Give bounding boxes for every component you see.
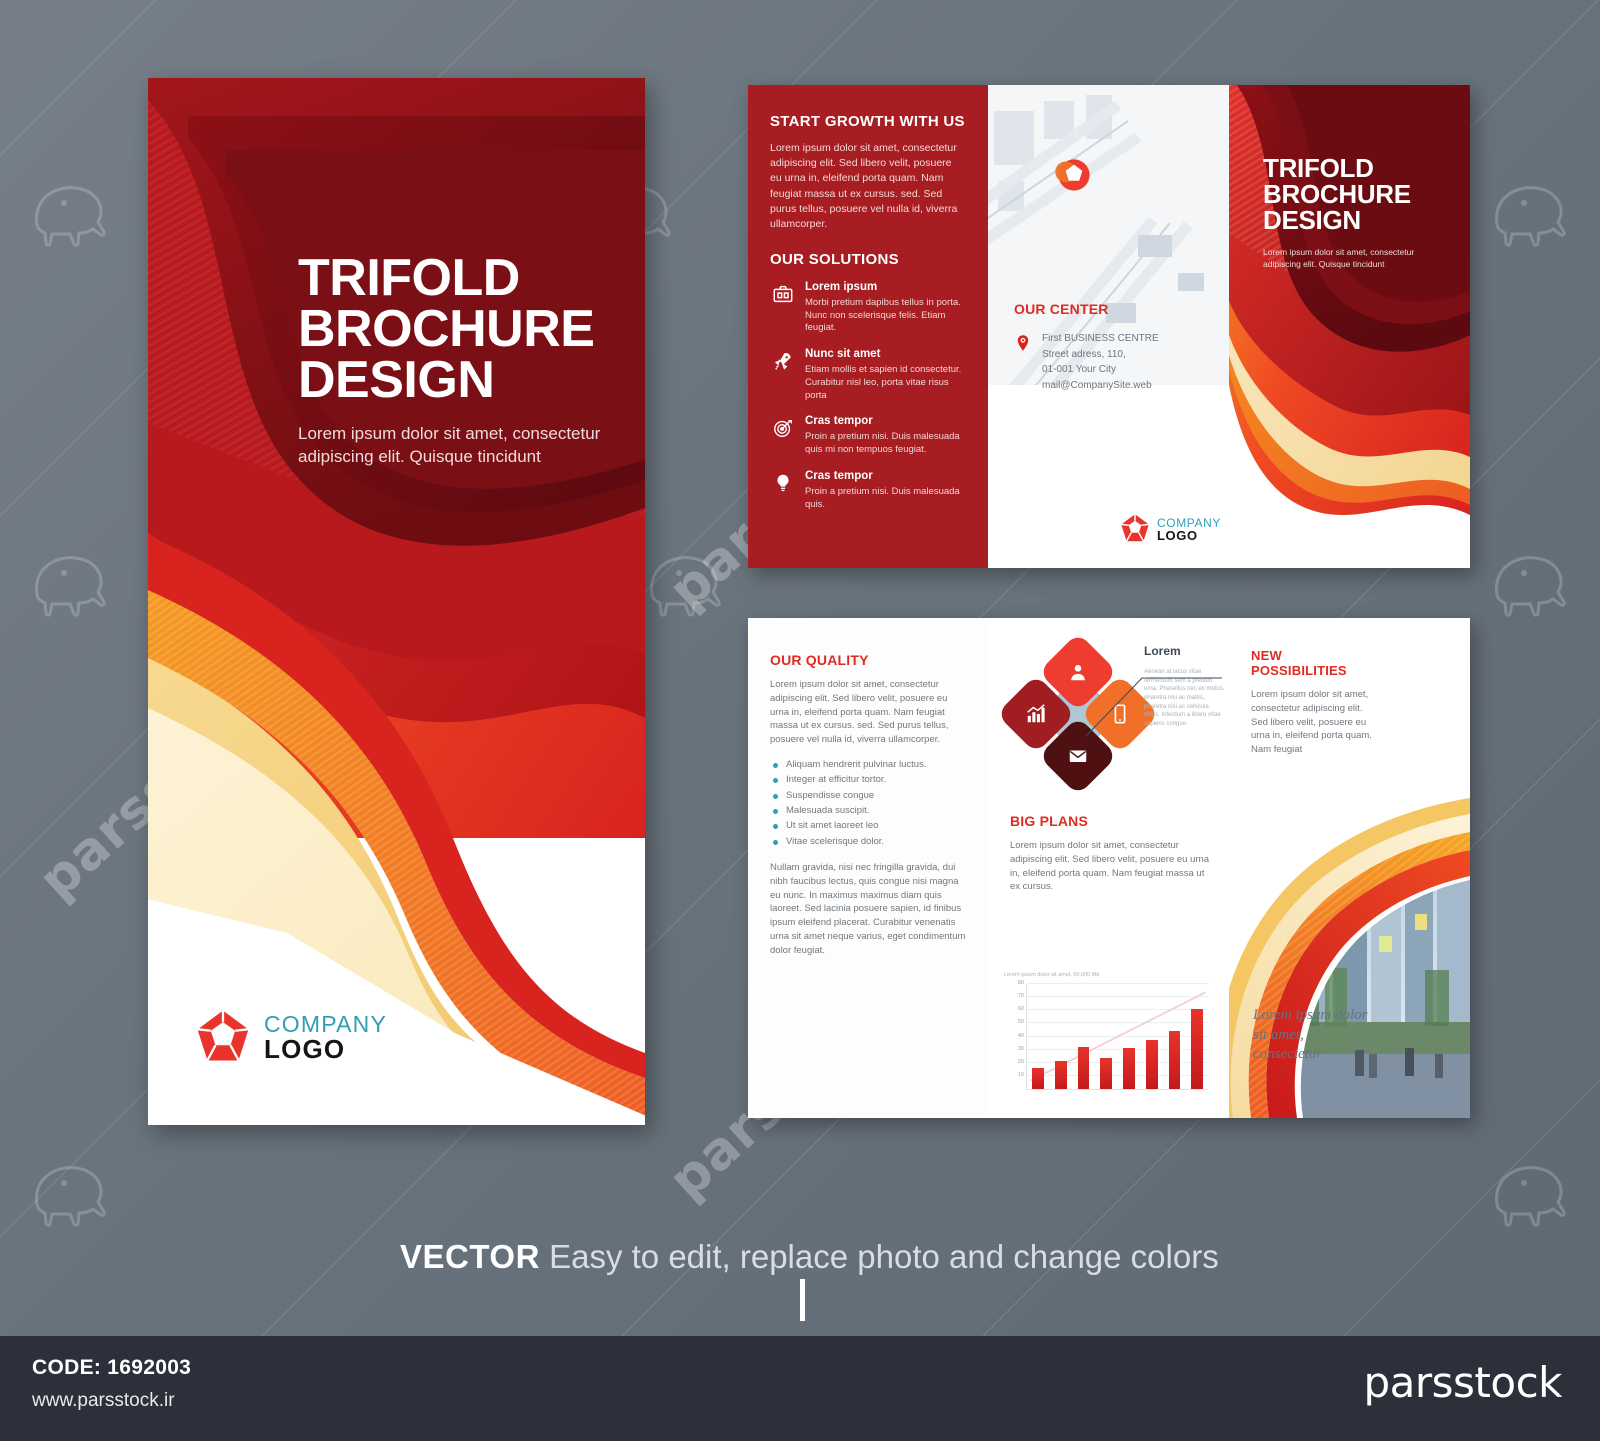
callout-block: Lorem Aenean at lacus vitae fermentum se… [1144, 644, 1226, 729]
chart-plot-area: 80 70 60 50 40 30 20 10 [1026, 984, 1209, 1090]
solution-text: Proin a pretium nisi. Duis malesuada qui… [805, 486, 970, 512]
list-item: Suspendisse congue [770, 788, 966, 803]
company-logo[interactable]: COMPANY LOGO [194, 1007, 387, 1070]
elephant-watermark-icon [1480, 170, 1600, 250]
our-center-heading: OUR CENTER [1014, 301, 1219, 317]
elephant-watermark-icon [20, 1150, 140, 1230]
target-icon [770, 415, 796, 441]
start-growth-heading: START GROWTH WITH US [770, 113, 966, 130]
solution-item[interactable]: Lorem ipsum Morbi pretium dapibus tellus… [770, 281, 970, 335]
list-item: Integer at efficitur tortor. [770, 772, 966, 787]
briefcase-icon [770, 281, 796, 307]
rocket-icon [770, 348, 796, 374]
chart-bar [1100, 1058, 1112, 1090]
big-plans-text: Lorem ipsum dolor sit amet, consectetur … [1010, 839, 1210, 894]
list-item: Vitae scelerisque dolor. [770, 834, 966, 849]
panel-new-possibilities: NEW POSSIBILITIES Lorem ipsum dolor sit … [1229, 618, 1470, 1118]
our-quality-paragraph-2: Nullam gravida, nisi nec fringilla gravi… [770, 861, 966, 957]
y-tick: 20 [1018, 1059, 1024, 1065]
start-growth-paragraph: Lorem ipsum dolor sit amet, consectetur … [770, 141, 966, 232]
chart-bar [1078, 1047, 1090, 1089]
list-item: Malesuada suscipit. [770, 803, 966, 818]
vector-caption-rest: Easy to edit, replace photo and change c… [549, 1238, 1219, 1275]
solution-text: Proin a pretium nisi. Duis malesuada qui… [805, 431, 970, 457]
mail-icon [1067, 745, 1089, 767]
y-tick: 70 [1018, 993, 1024, 999]
stock-code: CODE: 1692003 [32, 1356, 191, 1380]
company-logo-text: COMPANY LOGO [1157, 517, 1221, 544]
y-tick: 10 [1018, 1072, 1024, 1078]
list-item: Ut sit amet laoreet leo [770, 818, 966, 833]
stock-preview-canvas: parsstock parsstock parsstock parsstock … [0, 0, 1600, 1441]
cover-subtitle: Lorem ipsum dolor sit amet, consectetur … [298, 423, 618, 469]
our-quality-paragraph: Lorem ipsum dolor sit amet, consectetur … [770, 678, 966, 747]
y-tick: 60 [1018, 1006, 1024, 1012]
address-line: First BUSINESS CENTRE [1042, 331, 1159, 347]
watermark-row [0, 1150, 1600, 1230]
chart-bar [1191, 1009, 1203, 1089]
pentagon-star-icon [194, 1007, 252, 1070]
brochure-cover-page[interactable]: TRIFOLD BROCHURE DESIGN Lorem ipsum dolo… [148, 78, 645, 1125]
chart-bar [1123, 1048, 1135, 1089]
list-item: Aliquam hendrerit pulvinar luctus. [770, 757, 966, 772]
location-badge-icon [1048, 149, 1100, 201]
caption-tick-mark [800, 1279, 805, 1321]
new-possibilities-paragraph: Lorem ipsum dolor sit amet, consectetur … [1251, 688, 1376, 757]
chart-bar [1055, 1061, 1067, 1089]
chart-title: Lorem ipsum dolor sit amet, 00,000 Mb [1004, 972, 1099, 978]
stock-website[interactable]: www.parsstock.ir [32, 1390, 175, 1412]
cover-title: TRIFOLD BROCHURE DESIGN [298, 253, 628, 406]
company-logo-bottom: LOGO [264, 1036, 387, 1063]
pentagon-star-icon [1120, 513, 1150, 548]
y-tick: 40 [1018, 1033, 1024, 1039]
our-quality-heading: OUR QUALITY [770, 652, 966, 668]
address-line: Street adress, 110, [1042, 347, 1159, 363]
lightbulb-icon [770, 470, 796, 496]
brochure-outside-spread[interactable]: START GROWTH WITH US Lorem ipsum dolor s… [748, 85, 1470, 568]
map-pin-icon [1014, 331, 1032, 393]
company-logo-text: COMPANY LOGO [264, 1013, 387, 1063]
elephant-watermark-icon [1480, 1150, 1600, 1230]
company-logo[interactable]: COMPANY LOGO [1120, 513, 1221, 548]
right-panel-italic-text: Lorem ipsum dolor sit amet, consectetur [1253, 1006, 1373, 1065]
y-tick: 30 [1018, 1046, 1024, 1052]
address-line: mail@CompanySite.web [1042, 378, 1159, 394]
chart-bar [1146, 1040, 1158, 1089]
company-logo-bottom: LOGO [1157, 529, 1221, 544]
address-line: 01-001 Your City [1042, 362, 1159, 378]
solution-item[interactable]: Cras tempor Proin a pretium nisi. Duis m… [770, 415, 970, 456]
callout-text: Aenean at lacus vitae fermentum sem a pr… [1144, 668, 1226, 729]
solution-title: Cras tempor [805, 470, 970, 484]
vector-caption: VECTOR Easy to edit, replace photo and c… [400, 1238, 1219, 1276]
new-possibilities-heading: NEW POSSIBILITIES [1251, 648, 1376, 678]
our-solutions-heading: OUR SOLUTIONS [770, 251, 966, 268]
solution-item[interactable]: Cras tempor Proin a pretium nisi. Duis m… [770, 470, 970, 511]
chart-bar [1169, 1031, 1181, 1089]
solution-text: Etiam mollis et sapien id consectetur. C… [805, 364, 970, 402]
outside-cover-subtitle: Lorem ipsum dolor sit amet, consectetur … [1263, 247, 1438, 271]
outside-cover-title: TRIFOLD BROCHURE DESIGN [1263, 155, 1411, 233]
elephant-watermark-icon [1480, 540, 1600, 620]
panel-big-plans: Lorem Aenean at lacus vitae fermentum se… [988, 618, 1229, 1118]
stock-footer-bar: CODE: 1692003 www.parsstock.ir parsstock [0, 1336, 1600, 1441]
parsstock-logo: parsstock [1363, 1358, 1562, 1407]
solution-text: Morbi pretium dapibus tellus in porta. N… [805, 297, 970, 335]
growth-bar-chart: Lorem ipsum dolor sit amet, 00,000 Mb 80… [1004, 984, 1209, 1104]
solution-item[interactable]: Nunc sit amet Etiam mollis et sapien id … [770, 348, 970, 402]
vector-caption-bold: VECTOR [400, 1238, 540, 1275]
solution-title: Nunc sit amet [805, 348, 970, 362]
chart-bar [1032, 1068, 1044, 1089]
panel-outside-cover: TRIFOLD BROCHURE DESIGN Lorem ipsum dolo… [1229, 85, 1470, 568]
quality-bullet-list: Aliquam hendrerit pulvinar luctus. Integ… [770, 757, 966, 849]
big-plans-heading: BIG PLANS [1010, 813, 1210, 829]
panel-our-quality: OUR QUALITY Lorem ipsum dolor sit amet, … [748, 618, 988, 1118]
y-tick: 80 [1018, 980, 1024, 986]
panel-our-center: OUR CENTER First BUSINESS CENTRE Street … [988, 85, 1229, 568]
brochure-inside-spread[interactable]: OUR QUALITY Lorem ipsum dolor sit amet, … [748, 618, 1470, 1118]
elephant-watermark-icon [635, 540, 755, 620]
solution-title: Cras tempor [805, 415, 970, 429]
y-tick: 50 [1018, 1019, 1024, 1025]
panel-start-growth: START GROWTH WITH US Lorem ipsum dolor s… [748, 85, 988, 568]
elephant-watermark-icon [20, 540, 140, 620]
elephant-watermark-icon [20, 170, 140, 250]
company-logo-top: COMPANY [264, 1013, 387, 1036]
center-address: First BUSINESS CENTRE Street adress, 110… [1042, 331, 1159, 393]
callout-title: Lorem [1144, 644, 1226, 658]
solution-title: Lorem ipsum [805, 281, 970, 295]
bar-chart-icon [1025, 703, 1047, 725]
